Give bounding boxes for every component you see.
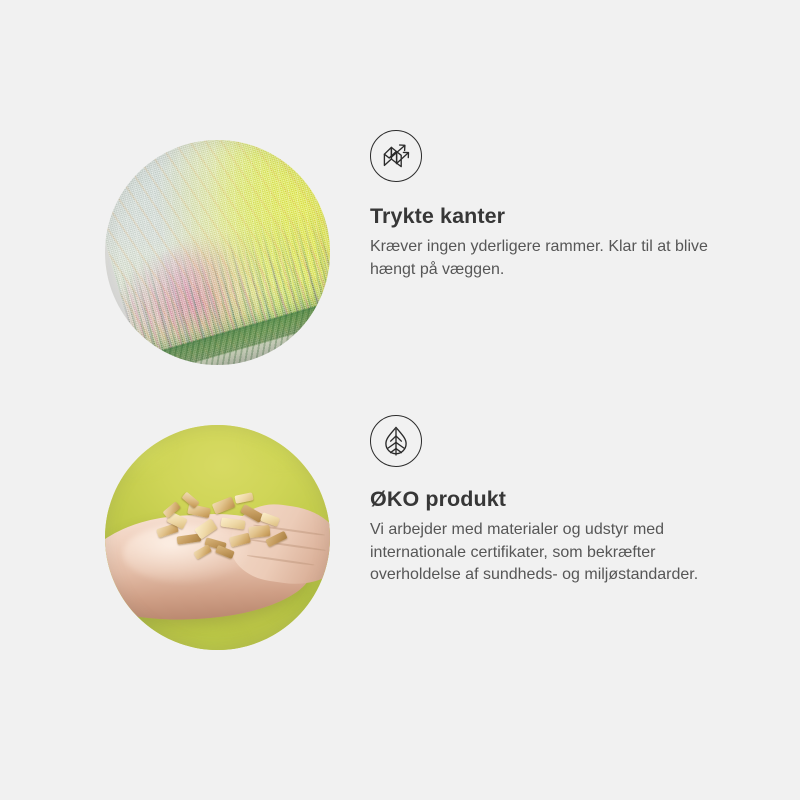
canvas-slab — [105, 140, 330, 365]
text-column-printed-edges: Trykte kanter Kræver ingen yderligere ra… — [370, 130, 770, 281]
leaf-glyph — [379, 424, 413, 458]
leaf-icon — [370, 415, 422, 467]
wood-chips-photo — [105, 425, 330, 650]
feature-title-eco-product: ØKO produkt — [370, 487, 770, 512]
media-column-eco-product — [0, 415, 370, 660]
feature-description-printed-edges: Kræver ingen yderligere rammer. Klar til… — [370, 236, 742, 281]
wood-chip-pile — [155, 493, 295, 570]
feature-description-eco-product: Vi arbejder med materialer og udstyr med… — [370, 519, 742, 587]
canvas-print-photo — [105, 140, 330, 365]
printed-edges-icon — [370, 130, 422, 182]
media-column-printed-edges — [0, 130, 370, 375]
feature-row-eco-product: ØKO produkt Vi arbejder med materialer o… — [0, 415, 800, 660]
product-features-panel: Trykte kanter Kræver ingen yderligere ra… — [0, 0, 800, 800]
feature-title-printed-edges: Trykte kanter — [370, 204, 770, 229]
feature-row-printed-edges: Trykte kanter Kræver ingen yderligere ra… — [0, 130, 800, 375]
printed-edges-glyph — [379, 139, 413, 173]
text-column-eco-product: ØKO produkt Vi arbejder med materialer o… — [370, 415, 770, 587]
